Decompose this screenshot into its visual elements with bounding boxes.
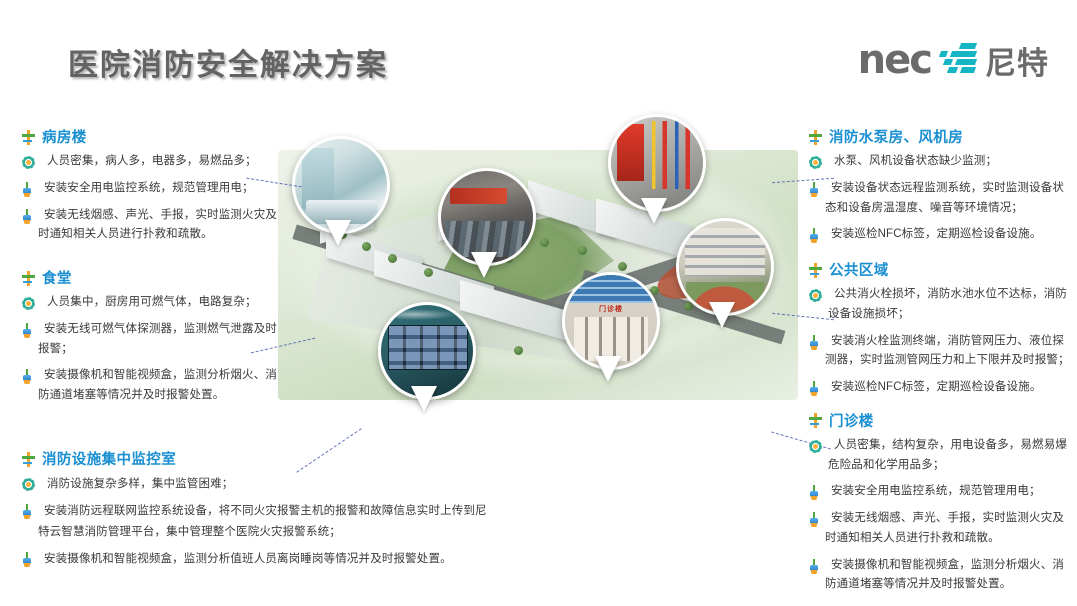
list-item: 安装摄像机和智能视频盒，监测分析烟火、消防通道堵塞等情况并及时报警处置。: [22, 366, 288, 406]
smoke-detector-icon: [809, 228, 819, 243]
list-item: 安装无线可燃气体探测器，监测燃气泄露及时报警；: [22, 320, 288, 360]
map-pin-outpatient[interactable]: 门诊楼: [562, 272, 654, 364]
pin-tail: [595, 356, 621, 382]
section-pump-fan-room: 消防水泵房、风机房 水泵、风机设备状态缺少监测； 安装设备状态远程监测系统，实时…: [809, 126, 1071, 245]
map-pin-ward[interactable]: [292, 136, 384, 228]
hospital-campus-illustration: 门诊楼: [278, 150, 798, 400]
list-item: 安装安全用电监控系统，规范管理用电；: [22, 179, 288, 199]
section-public-area: 公共区域 公共消火栓损坏，消防水池水位不达标，消防设备设施损坏； 安装消火栓监测…: [809, 259, 1071, 398]
page-title: 医院消防安全解决方案: [68, 40, 388, 84]
map-pin-pump-room[interactable]: [608, 114, 700, 206]
right-text-column: 消防水泵房、风机房 水泵、风机设备状态缺少监测； 安装设备状态远程监测系统，实时…: [809, 126, 1071, 606]
list-item: 安装巡检NFC标签，定期巡检设备设施。: [809, 225, 1071, 245]
list-item: 人员密集，病人多，电器多，易燃品多；: [22, 152, 288, 172]
pin-tail: [325, 220, 351, 246]
section-ward-building: 病房楼 人员密集，病人多，电器多，易燃品多； 安装安全用电监控系统，规范管理用电…: [22, 126, 288, 245]
brand-logo: nec 尼特: [858, 38, 1049, 82]
list-item: 安装巡检NFC标签，定期巡检设备设施。: [809, 378, 1071, 398]
pin-tail: [641, 198, 667, 224]
smoke-detector-icon: [22, 182, 32, 197]
list-item-text: 安装巡检NFC标签，定期巡检设备设施。: [825, 225, 1041, 245]
list-item: 人员集中，厨房用可燃气体，电路复杂；: [22, 293, 288, 313]
fire-safety-cross-icon: [809, 413, 822, 428]
section-heading-text: 病房楼: [42, 126, 87, 147]
slide-root: 医院消防安全解决方案 nec 尼特: [0, 0, 1077, 606]
list-item-text: 安装摄像机和智能视频盒，监测分析烟火、消防通道堵塞等情况并及时报警处置。: [825, 556, 1071, 596]
list-item-text: 安装无线可燃气体探测器，监测燃气泄露及时报警；: [38, 320, 288, 360]
smoke-detector-icon: [809, 381, 819, 396]
list-item: 安装摄像机和智能视频盒，监测分析值班人员离岗睡岗等情况并及时报警处置。: [22, 549, 492, 569]
list-item: 安装消火栓监测终端，消防管网压力、液位探测器，实时监测管网压力和上下限并及时报警…: [809, 332, 1071, 372]
smoke-detector-icon: [22, 504, 32, 519]
smoke-detector-icon: [809, 335, 819, 350]
section-fire-control-center: 消防设施集中监控室 消防设施复杂多样，集中监管困难； 安装消防远程联网监控系统设…: [22, 448, 492, 570]
section-heading: 公共区域: [809, 259, 1071, 280]
list-item: 安装摄像机和智能视频盒，监测分析烟火、消防通道堵塞等情况并及时报警处置。: [809, 556, 1071, 596]
left-text-column: 病房楼 人员密集，病人多，电器多，易燃品多； 安装安全用电监控系统，规范管理用电…: [22, 126, 288, 417]
map-pin-canteen[interactable]: [438, 168, 530, 260]
logo-latin-text: nec: [858, 40, 931, 80]
nec-teal-mark-icon: [940, 43, 976, 77]
list-item-text: 水泵、风机设备状态缺少监测；: [828, 152, 997, 172]
list-item: 安装无线烟感、声光、手报，实时监测火灾及时通知相关人员进行扑救和疏散。: [809, 509, 1071, 549]
smoke-detector-icon: [22, 323, 32, 338]
risk-alert-icon: [22, 156, 35, 169]
map-pin-public-area[interactable]: [676, 218, 768, 310]
list-item-text: 安装摄像机和智能视频盒，监测分析值班人员离岗睡岗等情况并及时报警处置。: [38, 549, 452, 569]
smoke-detector-icon: [22, 209, 32, 224]
fire-safety-cross-icon: [22, 452, 35, 467]
pin-tail: [411, 386, 437, 412]
list-item: 安装安全用电监控系统，规范管理用电；: [809, 482, 1071, 502]
risk-alert-icon: [22, 297, 35, 310]
risk-alert-icon: [22, 478, 35, 491]
risk-alert-icon: [809, 440, 822, 453]
section-heading: 消防水泵房、风机房: [809, 126, 1071, 147]
list-item: 水泵、风机设备状态缺少监测；: [809, 152, 1071, 172]
list-item: 安装无线烟感、声光、手报，实时监测火灾及时通知相关人员进行扑救和疏散。: [22, 206, 288, 246]
section-heading-text: 门诊楼: [829, 410, 874, 431]
list-item: 安装设备状态远程监测系统，实时监测设备状态和设备房温湿度、噪音等环境情况；: [809, 179, 1071, 219]
list-item-text: 安装安全用电监控系统，规范管理用电；: [38, 179, 254, 199]
list-item-text: 安装摄像机和智能视频盒，监测分析烟火、消防通道堵塞等情况并及时报警处置。: [38, 366, 288, 406]
smoke-detector-icon: [809, 182, 819, 197]
outpatient-sign-label: 门诊楼: [565, 304, 657, 314]
fire-safety-cross-icon: [809, 130, 822, 145]
list-item: 安装消防远程联网监控系统设备，将不同火灾报警主机的报警和故障信息实时上传到尼特云…: [22, 501, 492, 542]
list-item-text: 安装无线烟感、声光、手报，实时监测火灾及时通知相关人员进行扑救和疏散。: [825, 509, 1071, 549]
section-canteen: 食堂 人员集中，厨房用可燃气体，电路复杂； 安装无线可燃气体探测器，监测燃气泄露…: [22, 267, 288, 406]
list-item: 人员密集，结构复杂，用电设备多，易燃易爆危险品和化学用品多；: [809, 436, 1071, 476]
section-heading: 食堂: [22, 267, 288, 288]
list-item: 消防设施复杂多样，集中监管困难；: [22, 474, 492, 494]
fire-safety-cross-icon: [809, 263, 822, 278]
smoke-detector-icon: [809, 559, 819, 574]
section-heading-text: 消防水泵房、风机房: [829, 126, 963, 147]
list-item-text: 安装设备状态远程监测系统，实时监测设备状态和设备房温湿度、噪音等环境情况；: [825, 179, 1071, 219]
list-item-text: 安装消火栓监测终端，消防管网压力、液位探测器，实时监测管网压力和上下限并及时报警…: [825, 332, 1071, 372]
pin-tail: [471, 252, 497, 278]
list-item-text: 公共消火栓损坏，消防水池水位不达标，消防设备设施损坏；: [828, 285, 1071, 325]
list-item-text: 安装消防远程联网监控系统设备，将不同火灾报警主机的报警和故障信息实时上传到尼特云…: [38, 501, 492, 542]
section-outpatient-building: 门诊楼 人员密集，结构复杂，用电设备多，易燃易爆危险品和化学用品多； 安装安全用…: [809, 410, 1071, 595]
section-heading-text: 食堂: [42, 267, 72, 288]
list-item: 公共消火栓损坏，消防水池水位不达标，消防设备设施损坏；: [809, 285, 1071, 325]
pin-tail: [709, 302, 735, 328]
risk-alert-icon: [809, 289, 822, 302]
list-item-text: 人员集中，厨房用可燃气体，电路复杂；: [41, 293, 257, 313]
smoke-detector-icon: [22, 552, 32, 567]
section-heading: 消防设施集中监控室: [22, 448, 492, 469]
list-item-text: 消防设施复杂多样，集中监管困难；: [41, 474, 233, 494]
logo-chinese-text: 尼特: [985, 38, 1049, 83]
bottom-text-block: 消防设施集中监控室 消防设施复杂多样，集中监管困难； 安装消防远程联网监控系统设…: [22, 448, 512, 581]
list-item-text: 人员密集，结构复杂，用电设备多，易燃易爆危险品和化学用品多；: [828, 436, 1071, 476]
section-heading: 病房楼: [22, 126, 288, 147]
list-item-text: 安装无线烟感、声光、手报，实时监测火灾及时通知相关人员进行扑救和疏散。: [38, 206, 288, 246]
section-heading-text: 消防设施集中监控室: [42, 448, 176, 469]
risk-alert-icon: [809, 156, 822, 169]
section-heading: 门诊楼: [809, 410, 1071, 431]
map-pin-monitor-room[interactable]: [378, 302, 470, 394]
smoke-detector-icon: [809, 485, 819, 500]
section-heading-text: 公共区域: [829, 259, 889, 280]
list-item-text: 人员密集，病人多，电器多，易燃品多；: [41, 152, 257, 172]
fire-safety-cross-icon: [22, 271, 35, 286]
list-item-text: 安装安全用电监控系统，规范管理用电；: [825, 482, 1041, 502]
smoke-detector-icon: [22, 369, 32, 384]
fire-safety-cross-icon: [22, 130, 35, 145]
smoke-detector-icon: [809, 512, 819, 527]
list-item-text: 安装巡检NFC标签，定期巡检设备设施。: [825, 378, 1041, 398]
